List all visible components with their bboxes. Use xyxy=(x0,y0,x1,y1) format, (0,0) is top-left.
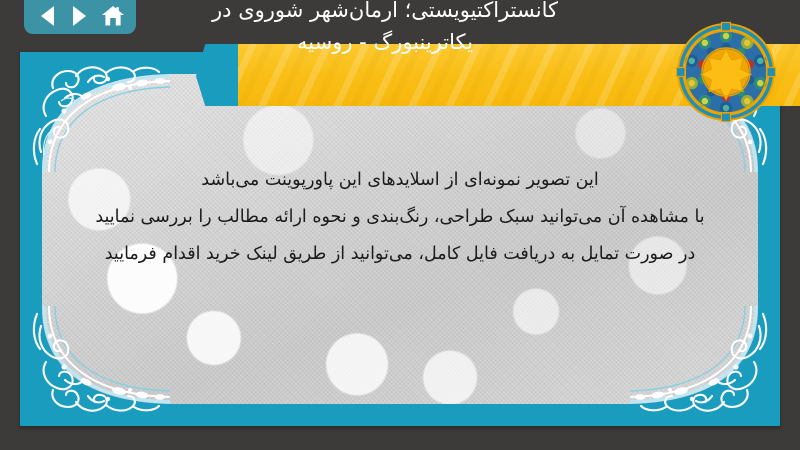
navigation-bar xyxy=(24,0,136,34)
previous-slide-button[interactable] xyxy=(34,4,60,28)
body-line-3: در صورت تمایل به دریافت فایل کامل، می‌تو… xyxy=(78,236,722,273)
header-banner xyxy=(212,44,800,106)
home-icon xyxy=(101,5,125,27)
next-slide-button[interactable] xyxy=(67,4,93,28)
triangle-right-icon xyxy=(73,6,86,26)
triangle-left-icon xyxy=(41,6,54,26)
slide-viewer: این تصویر نمونه‌ای از اسلایدهای این پاور… xyxy=(0,0,800,450)
slide-canvas: این تصویر نمونه‌ای از اسلایدهای این پاور… xyxy=(42,74,758,404)
slide-frame: این تصویر نمونه‌ای از اسلایدهای این پاور… xyxy=(20,52,780,426)
slide-body-text: این تصویر نمونه‌ای از اسلایدهای این پاور… xyxy=(78,162,722,273)
home-button[interactable] xyxy=(100,4,126,28)
body-line-2: با مشاهده آن می‌توانید سبک طراحی، رنگ‌بن… xyxy=(78,199,722,236)
body-line-1: این تصویر نمونه‌ای از اسلایدهای این پاور… xyxy=(78,162,722,199)
